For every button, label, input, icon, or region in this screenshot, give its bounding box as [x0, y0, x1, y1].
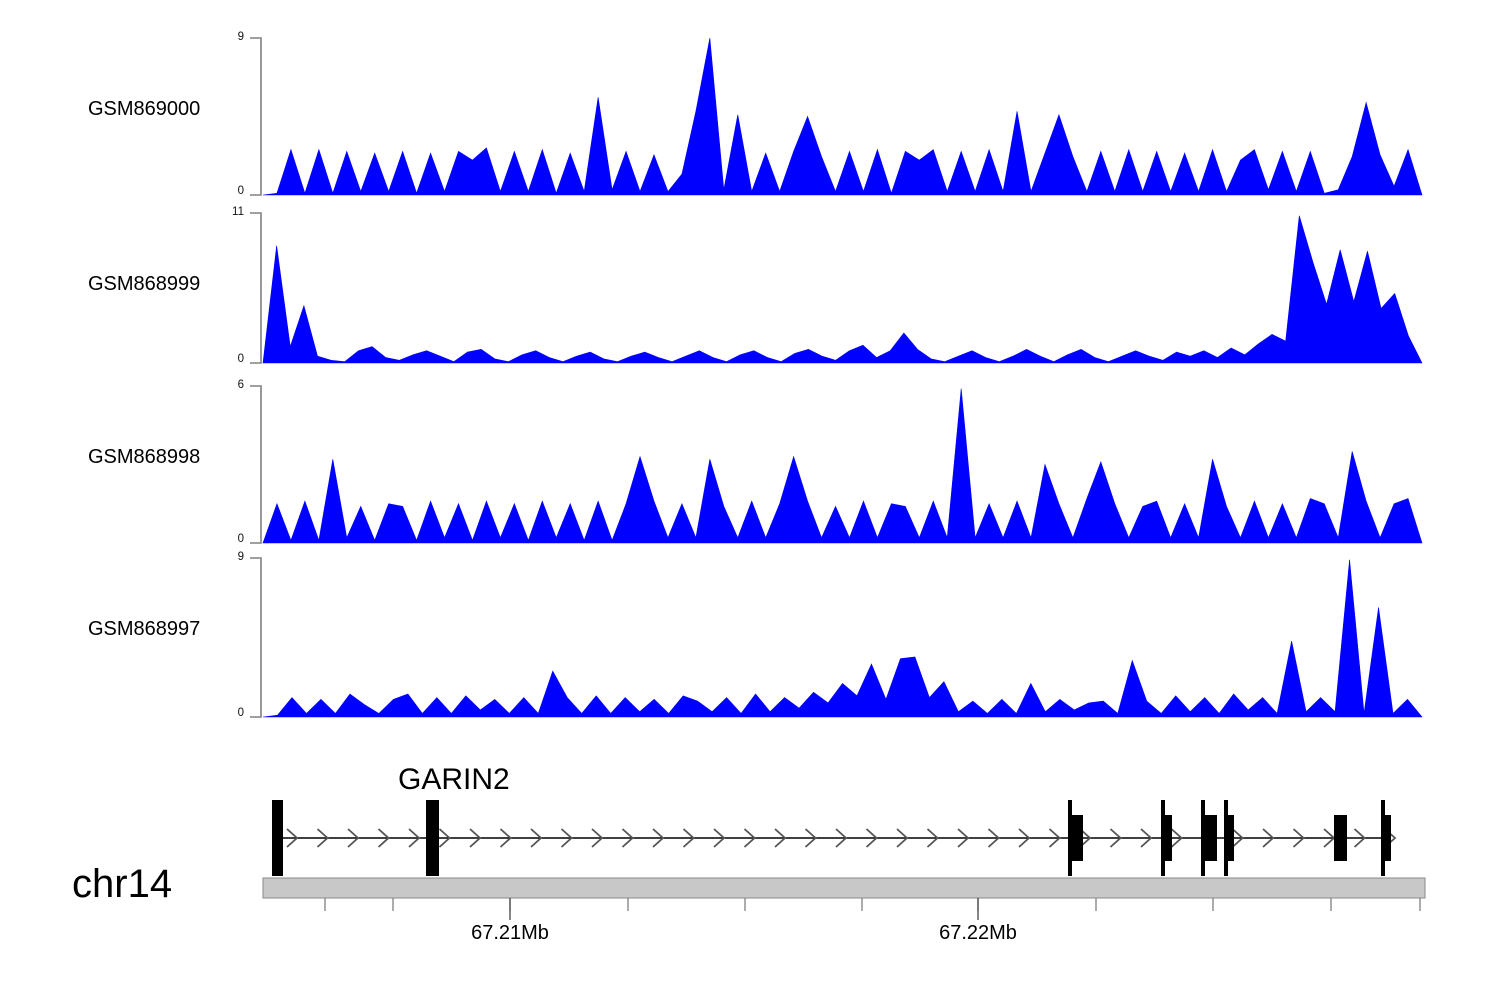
- genome-browser-plot: GSM869000 9 0 GSM868999 11 0 GSM868998 6…: [0, 0, 1500, 980]
- gene-name-label: GARIN2: [398, 763, 510, 797]
- coverage-track-3: GSM868997 9 0: [0, 550, 1500, 722]
- axis-tick-label: 67.21Mb: [471, 922, 549, 945]
- axis-tick-label: 67.22Mb: [939, 922, 1017, 945]
- coverage-area-0: [0, 30, 1500, 202]
- coverage-track-2: GSM868998 6 0: [0, 378, 1500, 548]
- coverage-area-2: [0, 378, 1500, 548]
- coverage-area-1: [0, 205, 1500, 377]
- coverage-area-3: [0, 550, 1500, 722]
- coverage-track-1: GSM868999 11 0: [0, 205, 1500, 377]
- coverage-track-0: GSM869000 9 0: [0, 30, 1500, 202]
- genome-axis-svg[interactable]: [0, 870, 1500, 980]
- genome-axis-track: 67.21Mb67.22Mb: [0, 870, 1500, 980]
